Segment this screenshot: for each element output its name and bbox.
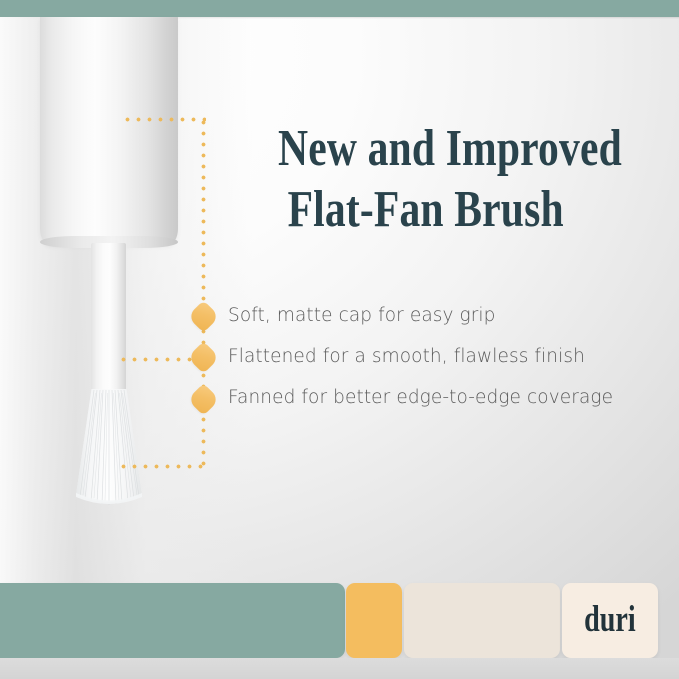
- brush-bristles: [54, 387, 164, 509]
- bottom-color-bar: duri: [0, 583, 679, 658]
- top-accent-bar: [0, 0, 679, 17]
- feature-list: Soft, matte cap for easy grip Flattened …: [228, 295, 658, 418]
- bottom-fill: [0, 658, 679, 679]
- feature-text-1: Soft, matte cap for easy grip: [228, 305, 496, 326]
- color-segment-sage: [0, 583, 345, 658]
- color-segment-amber: [346, 583, 402, 658]
- headline-line-1: New and Improved: [278, 118, 670, 179]
- promo-graphic: New and Improved Flat-Fan Brush Soft, ma…: [0, 0, 679, 679]
- polish-cap: [40, 17, 178, 245]
- brand-logo-tile: duri: [562, 583, 658, 658]
- product-image-brush: [0, 17, 260, 517]
- brand-logo: duri: [584, 601, 636, 640]
- list-item: Fanned for better edge-to-edge coverage: [228, 377, 658, 418]
- brush-ferrule: [91, 243, 126, 391]
- feature-text-3: Fanned for better edge-to-edge coverage: [228, 387, 613, 408]
- headline-line-2: Flat-Fan Brush: [278, 179, 679, 240]
- page-title: New and Improved Flat-Fan Brush: [278, 118, 592, 240]
- list-item: Flattened for a smooth, flawless finish: [228, 336, 658, 377]
- color-segment-beige: [404, 583, 560, 658]
- feature-text-2: Flattened for a smooth, flawless finish: [228, 346, 585, 367]
- list-item: Soft, matte cap for easy grip: [228, 295, 658, 336]
